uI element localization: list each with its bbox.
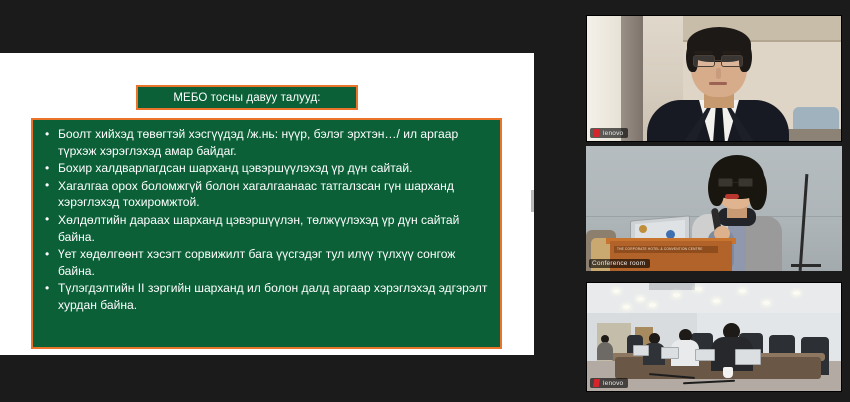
bullet-item: Хөлдөлтийн дараах шарханд цэвэршүүлэн, т…: [41, 212, 490, 245]
video-conference-window: МЕБО тосны давуу талууд: Боолт хийхэд тө…: [0, 0, 850, 402]
participant-tile-1[interactable]: lenovo: [586, 15, 842, 142]
lenovo-logo-icon: [593, 129, 600, 137]
laptop-sticker-1: [639, 225, 647, 233]
ceiling-light: [763, 301, 770, 305]
bullet-item: Хагалгаа орох боломжгүй болон хагалгаана…: [41, 178, 490, 211]
slide-body-box: Боолт хийхэд төвөгтэй хэсгүүдэд /ж.нь: н…: [31, 118, 502, 349]
participant-name-3: lenovo: [603, 380, 623, 387]
participant-name-1: lenovo: [603, 130, 623, 137]
participant-video-2: THE CORPORATE HOTEL & CONVENTION CENTRE: [586, 146, 842, 271]
participant-tile-2[interactable]: THE CORPORATE HOTEL & CONVENTION CENTRE …: [586, 146, 842, 271]
sheer-curtain: [587, 16, 621, 141]
bullet-item: Бохир халдварлагдсан шарханд цэвэршүүлэх…: [41, 160, 490, 177]
presentation-slide: МЕБО тосны давуу талууд: Боолт хийхэд тө…: [0, 53, 534, 355]
ceiling-light: [649, 303, 656, 307]
participant-label-2: Conference room: [589, 259, 650, 268]
bullet-item: Боолт хийхэд төвөгтэй хэсгүүдэд /ж.нь: н…: [41, 126, 490, 159]
ceiling-light: [695, 287, 702, 291]
eyeglass-bridge: [715, 60, 721, 61]
dark-curtain: [621, 16, 643, 141]
ceiling-light: [637, 297, 644, 301]
eyebrow-right: [722, 51, 741, 54]
screen-share-region: МЕБО тосны давуу талууд: Боолт хийхэд тө…: [0, 0, 578, 402]
scrollbar-nub[interactable]: [531, 190, 534, 212]
lenovo-logo-icon: [593, 379, 600, 387]
ceiling-light: [613, 289, 620, 293]
coffee-cup: [723, 367, 733, 378]
participant-filmstrip: lenovo: [578, 0, 850, 402]
slide-title-box: МЕБО тосны давуу талууд:: [136, 85, 358, 110]
eyeglass-lens-right: [721, 55, 743, 67]
ceiling-light: [739, 289, 746, 293]
participant-video-1: [587, 16, 841, 141]
ceiling-vent: [649, 283, 695, 290]
slide-title-text: МЕБО тосны давуу талууд:: [173, 92, 320, 104]
laptop: [633, 345, 649, 356]
eyeglass-lens-left: [718, 178, 733, 187]
podium-nameplate-text: THE CORPORATE HOTEL & CONVENTION CENTRE: [617, 247, 715, 251]
mouth: [709, 82, 727, 85]
ceiling-light: [793, 291, 800, 295]
ceiling-light: [673, 293, 680, 297]
lips: [725, 194, 739, 199]
hair-side-left: [708, 170, 724, 206]
hair-side-right: [749, 170, 767, 210]
bullet-item: Түлэгдэлтийн II зэргийн шарханд ил болон…: [41, 280, 490, 313]
eyeglass-bridge: [733, 182, 738, 183]
ceiling-light: [713, 299, 720, 303]
mic-stand-base: [791, 264, 821, 267]
laptop: [661, 347, 679, 359]
laptop: [695, 349, 715, 361]
laptop: [735, 349, 761, 365]
participant-name-2: Conference room: [592, 260, 645, 267]
participant-label-3: lenovo: [590, 378, 628, 388]
eyeglass-lens-right: [738, 178, 753, 187]
person-body: [597, 342, 613, 360]
participant-video-3: [587, 283, 841, 391]
bullet-item: Үет хөдөлгөөнт хэсэгт сорвижилт бага үүс…: [41, 246, 490, 279]
ceiling-light: [623, 305, 630, 309]
nose: [716, 68, 721, 79]
participant-tile-3[interactable]: lenovo: [586, 282, 842, 392]
eyebrow-left: [694, 51, 713, 54]
side-table: [783, 129, 841, 141]
participant-label-1: lenovo: [590, 128, 628, 138]
slide-bullet-list: Боолт хийхэд төвөгтэй хэсгүүдэд /ж.нь: н…: [41, 126, 490, 314]
eyeglass-lens-left: [693, 55, 715, 67]
